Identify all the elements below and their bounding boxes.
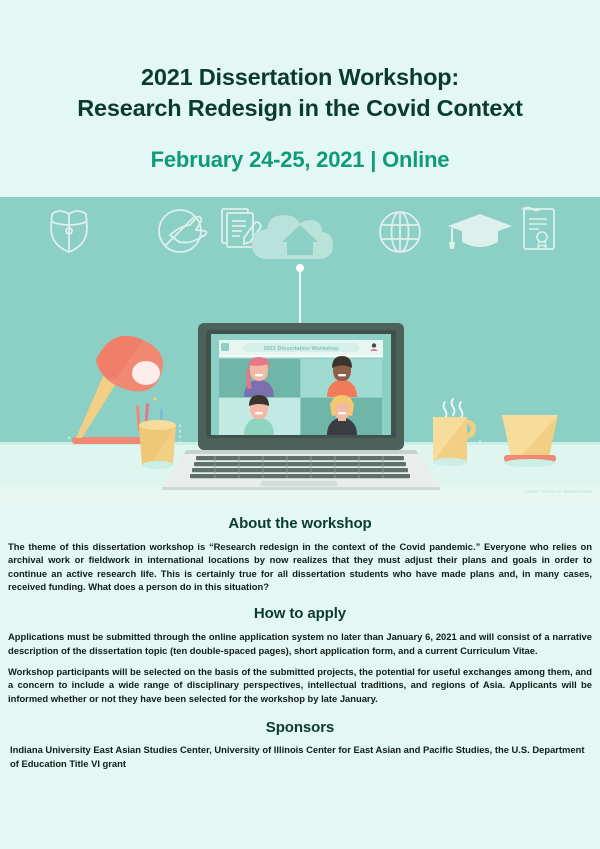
sponsors-list: Indiana University East Asian Studies Ce… bbox=[8, 743, 592, 770]
avatar bbox=[372, 343, 376, 347]
apply-paragraph-1: Applications must be submitted through t… bbox=[8, 630, 592, 657]
video-tile-4 bbox=[301, 395, 382, 435]
video-tile-1 bbox=[219, 357, 300, 397]
illustration-svg: 2021 Dissertation Workshop bbox=[0, 197, 600, 503]
page-title-line-2: Research Redesign in the Covid Context bbox=[20, 93, 580, 124]
image-credit: Credit: ST.art at shutterstock bbox=[524, 489, 592, 494]
app-logo-icon bbox=[221, 343, 229, 351]
app-toolbar bbox=[219, 355, 383, 358]
video-tile-3 bbox=[219, 395, 300, 435]
hero-illustration: 2021 Dissertation Workshop bbox=[0, 197, 600, 503]
glass-cup bbox=[502, 415, 558, 467]
page-title-line-1: 2021 Dissertation Workshop: bbox=[20, 62, 580, 93]
laptop: 2021 Dissertation Workshop bbox=[162, 323, 440, 490]
laptop-hinge bbox=[184, 450, 418, 454]
section-heading-about: About the workshop bbox=[8, 515, 592, 532]
poster: 2021 Dissertation Workshop: Research Red… bbox=[0, 0, 600, 849]
laptop-trackpad bbox=[260, 481, 338, 486]
poster-content: About the workshop The theme of this dis… bbox=[0, 503, 600, 770]
section-heading-sponsors: Sponsors bbox=[8, 719, 592, 736]
about-paragraph: The theme of this dissertation workshop … bbox=[8, 540, 592, 593]
event-date-subtitle: February 24-25, 2021 | Online bbox=[20, 147, 580, 173]
connector-dot bbox=[296, 264, 304, 272]
laptop-base-edge bbox=[162, 487, 440, 490]
apply-paragraph-2: Workshop participants will be selected o… bbox=[8, 665, 592, 705]
video-tile-2 bbox=[301, 356, 382, 397]
section-heading-how-to-apply: How to apply bbox=[8, 605, 592, 622]
poster-header: 2021 Dissertation Workshop: Research Red… bbox=[0, 0, 600, 173]
laptop-screen-title: 2021 Dissertation Workshop bbox=[263, 346, 339, 352]
